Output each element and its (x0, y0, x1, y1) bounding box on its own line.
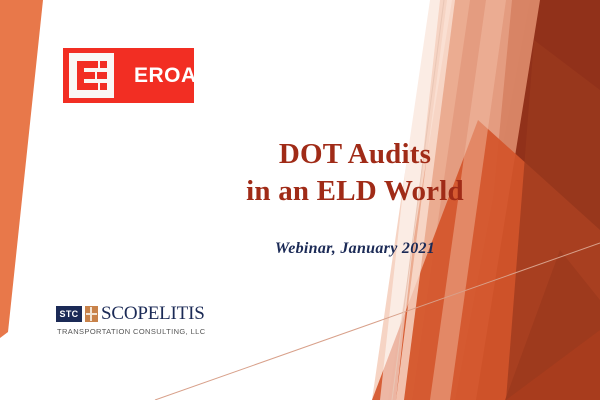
hairline-diagonal-long (155, 243, 600, 400)
title-line-1: DOT Audits (210, 136, 500, 173)
eroad-logo: EROAD (63, 48, 194, 103)
scopelitis-logo-row: STC SCOPELITIS (56, 303, 216, 324)
facet-dark-mid (506, 40, 600, 400)
left-orange-wedge (0, 0, 43, 338)
slide-subtitle: Webinar, January 2021 (210, 240, 500, 258)
stc-badge: STC (56, 306, 82, 322)
page-title: DOT Audits in an ELD World (210, 136, 500, 210)
scopelitis-name: SCOPELITIS (101, 304, 205, 323)
eroad-e-mark-icon (69, 53, 114, 98)
scopelitis-emblem-icon (85, 306, 98, 322)
eroad-wordmark: EROAD (134, 65, 212, 86)
title-line-2: in an ELD World (210, 173, 500, 210)
presentation-title-slide: EROAD DOT Audits in an ELD World Webinar… (0, 0, 600, 400)
facet-deepred-lower (505, 250, 600, 400)
scopelitis-logo: STC SCOPELITIS TRANSPORTATION CONSULTING… (56, 303, 216, 336)
scopelitis-tagline: TRANSPORTATION CONSULTING, LLC (57, 327, 216, 336)
